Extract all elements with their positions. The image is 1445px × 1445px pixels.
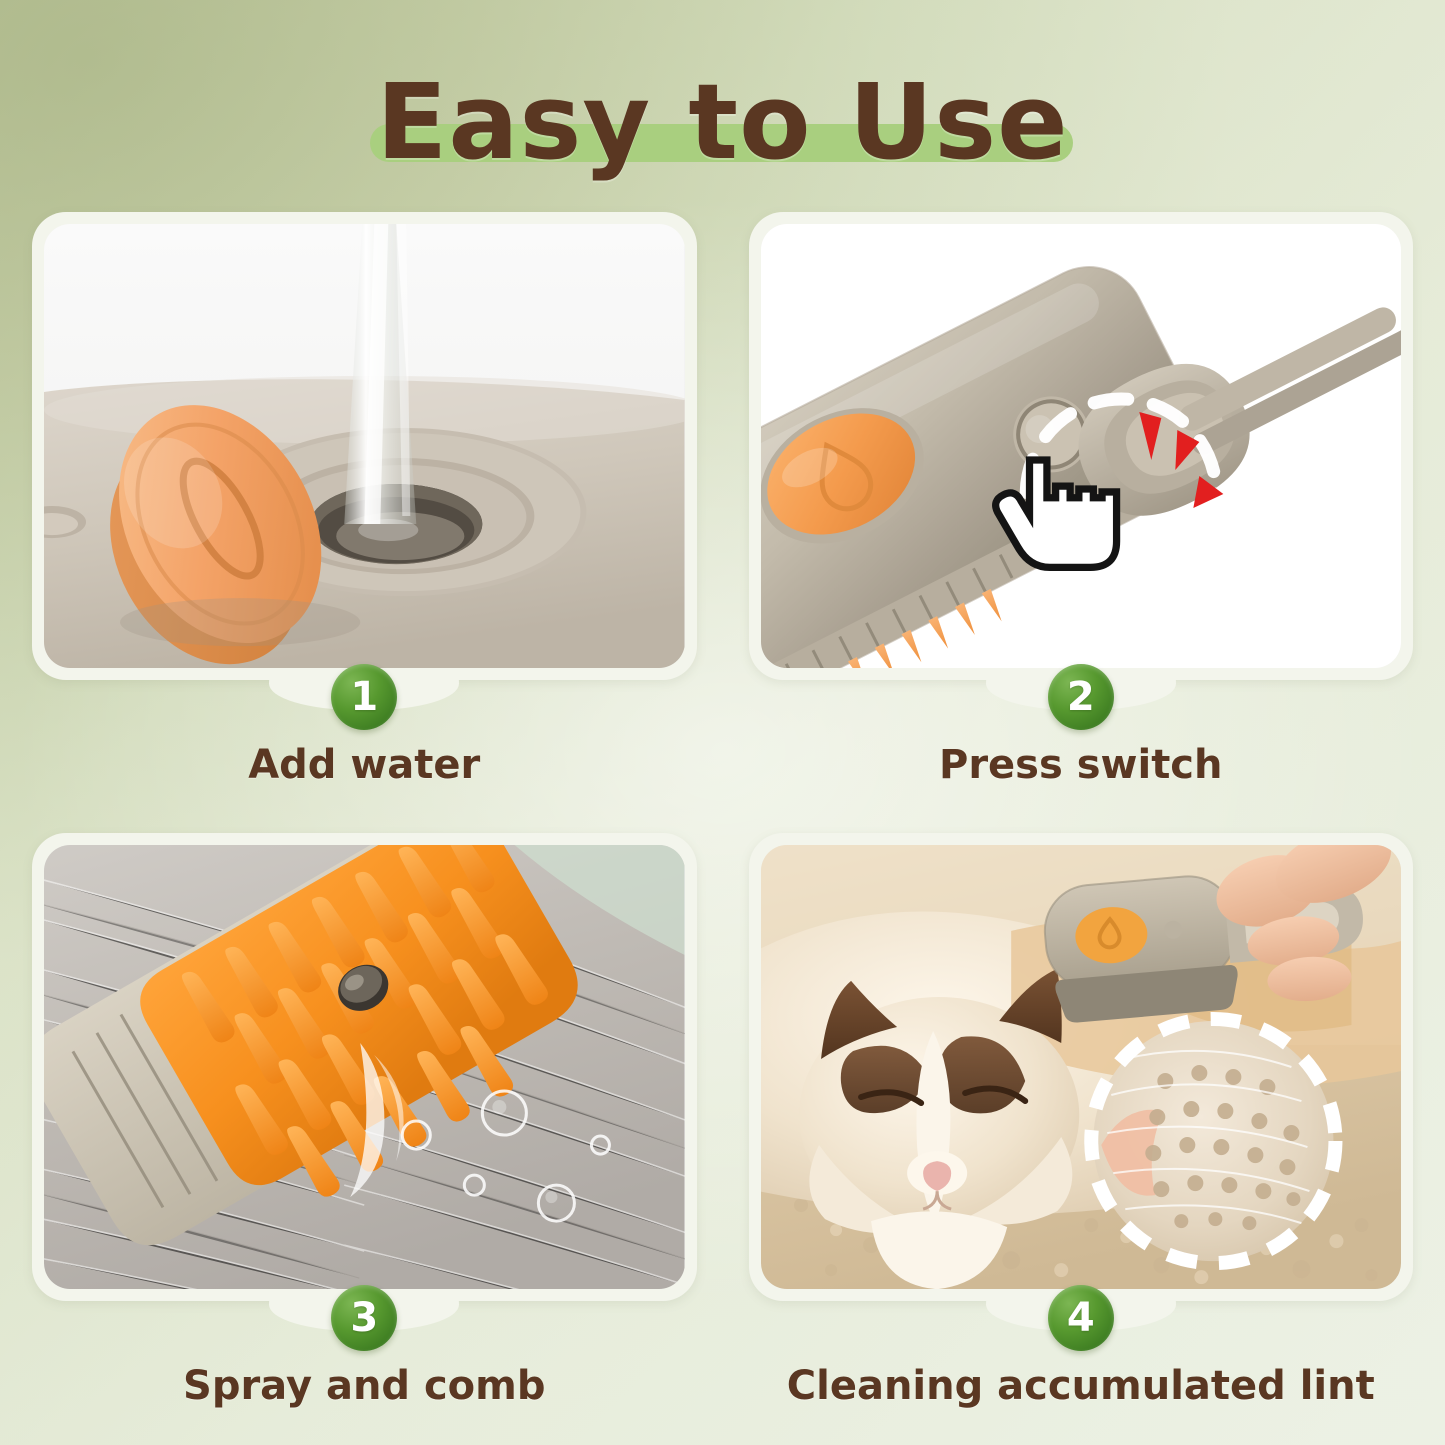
step-number-3: 3: [350, 1298, 378, 1338]
step-number-1: 1: [350, 677, 378, 717]
step-badge-4: 4: [1048, 1285, 1114, 1351]
step-card-3: 3 Spray and comb: [22, 833, 707, 1432]
steps-grid: 1 Add water: [22, 212, 1423, 1432]
add-water-photo: [44, 224, 685, 668]
page-header: Easy to Use: [0, 58, 1445, 188]
step-caption-3: Spray and comb: [22, 1363, 707, 1409]
step-badge-2: 2: [1048, 664, 1114, 730]
step-caption-1: Add water: [22, 742, 707, 788]
page-title: Easy to Use: [376, 68, 1068, 177]
cleaning-lint-photo: [761, 845, 1402, 1289]
step-number-2: 2: [1067, 677, 1095, 717]
press-switch-photo: [761, 224, 1402, 668]
step-badge-3: 3: [331, 1285, 397, 1351]
step-card-4: 4 Cleaning accumulated lint: [739, 833, 1424, 1432]
step-badge-1: 1: [331, 664, 397, 730]
step-number-4: 4: [1067, 1298, 1095, 1338]
step-caption-2: Press switch: [739, 742, 1424, 788]
spray-and-comb-photo: [44, 845, 685, 1289]
step-card-2: 2 Press switch: [739, 212, 1424, 811]
step-card-1: 1 Add water: [22, 212, 707, 811]
step-caption-4: Cleaning accumulated lint: [739, 1363, 1424, 1409]
